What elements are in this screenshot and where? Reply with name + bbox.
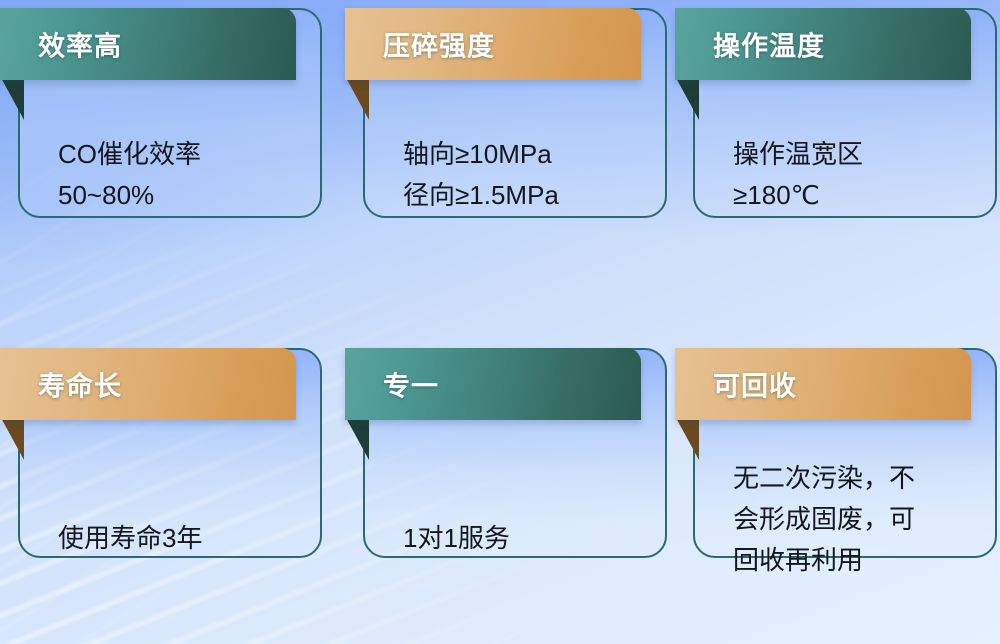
ribbon-fold-icon [675, 416, 699, 460]
feature-card-long-lifespan[interactable]: 寿命长 使用寿命3年 [0, 348, 305, 560]
infographic-stage: 效率高 CO催化效率 50~80% 压碎强度 轴向≥10MPa 径向≥1.5MP… [0, 0, 1000, 644]
feature-card-crush-strength[interactable]: 压碎强度 轴向≥10MPa 径向≥1.5MPa [345, 8, 650, 220]
card-body-text: 轴向≥10MPa 径向≥1.5MPa [403, 134, 628, 216]
card-header-ribbon: 操作温度 [675, 8, 971, 80]
card-body-text: 操作温宽区 ≥180℃ [733, 134, 958, 216]
card-header-ribbon: 可回收 [675, 348, 971, 420]
card-body-text: 使用寿命3年 [58, 518, 283, 559]
card-header-ribbon: 压碎强度 [345, 8, 641, 80]
card-title: 寿命长 [38, 365, 122, 404]
card-body-text: 1对1服务 [403, 518, 628, 559]
card-header-ribbon: 专一 [345, 348, 641, 420]
card-body-text: CO催化效率 50~80% [58, 134, 283, 216]
feature-card-dedicated-service[interactable]: 专一 1对1服务 [345, 348, 650, 560]
feature-card-operating-temperature[interactable]: 操作温度 操作温宽区 ≥180℃ [675, 8, 980, 220]
ribbon-fold-icon [345, 416, 369, 460]
card-header-ribbon: 效率高 [0, 8, 296, 80]
card-title: 压碎强度 [383, 25, 495, 64]
ribbon-fold-icon [0, 416, 24, 460]
card-title: 操作温度 [713, 25, 825, 64]
card-title: 可回收 [713, 365, 797, 404]
card-title: 效率高 [38, 25, 122, 64]
feature-card-recyclable[interactable]: 可回收 无二次污染，不 会形成固废，可 回收再利用 [675, 348, 980, 560]
ribbon-fold-icon [675, 76, 699, 120]
card-title: 专一 [383, 365, 439, 404]
ribbon-fold-icon [345, 76, 369, 120]
feature-card-efficiency[interactable]: 效率高 CO催化效率 50~80% [0, 8, 305, 220]
card-header-ribbon: 寿命长 [0, 348, 296, 420]
card-body-text: 无二次污染，不 会形成固废，可 回收再利用 [733, 458, 958, 581]
ribbon-fold-icon [0, 76, 24, 120]
